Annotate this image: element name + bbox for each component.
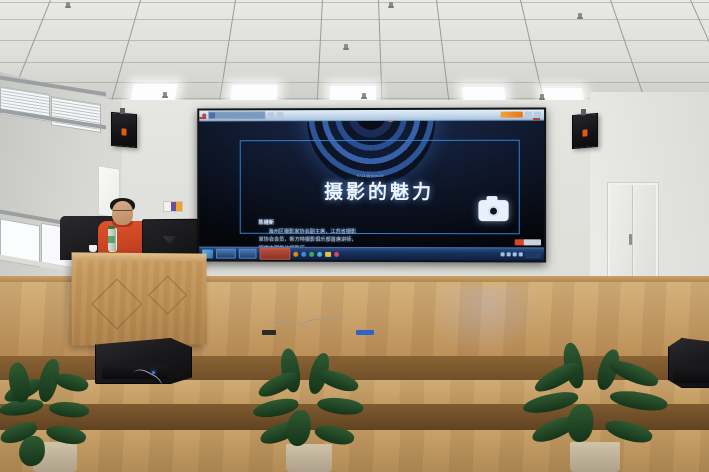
tray-icon[interactable] bbox=[317, 251, 322, 256]
windows-taskbar[interactable] bbox=[199, 247, 544, 261]
glasses-icon bbox=[113, 210, 132, 215]
sprinkler-head bbox=[389, 2, 393, 8]
sprinkler-head bbox=[578, 13, 582, 19]
double-door[interactable] bbox=[607, 182, 659, 284]
sprinkler-head bbox=[362, 93, 366, 99]
door-handle[interactable] bbox=[629, 234, 632, 245]
plant-pot bbox=[286, 444, 332, 472]
bottle-label bbox=[108, 236, 115, 243]
led-display[interactable]: 9/11@mm45 摄影的魅力 陈继新 海州区摄影家协会副主席，江苏省摄影 家协… bbox=[197, 107, 546, 262]
taskbar-active-window[interactable] bbox=[260, 248, 291, 260]
taskbar-clock[interactable] bbox=[525, 251, 541, 258]
slide-title: 摄影的魅力 bbox=[241, 177, 519, 204]
maximize-icon[interactable] bbox=[534, 112, 541, 118]
potted-plant-left bbox=[0, 340, 110, 472]
tray-icon[interactable] bbox=[309, 251, 314, 256]
potted-plant-right bbox=[520, 342, 670, 472]
bio-line-2: 家协会会员，新方特摄影俱乐部首席讲师， bbox=[259, 237, 357, 243]
wall-speaker-left bbox=[111, 112, 137, 148]
plant-leaf bbox=[316, 395, 364, 418]
lens-highlight bbox=[386, 121, 395, 122]
presentation-slide: 9/11@mm45 摄影的魅力 陈继新 海州区摄影家协会副主席，江苏省摄影 家协… bbox=[199, 121, 544, 248]
taskbar-window[interactable] bbox=[216, 249, 236, 259]
wooden-podium bbox=[72, 252, 207, 345]
door-leaf-right[interactable] bbox=[634, 185, 656, 281]
sprinkler-head bbox=[66, 2, 70, 8]
potted-plant-center bbox=[252, 348, 366, 472]
toolbar-button[interactable] bbox=[267, 112, 274, 118]
cable-connector bbox=[262, 330, 276, 335]
screenshot-root: 9/11@mm45 摄影的魅力 陈继新 海州区摄影家协会副主席，江苏省摄影 家协… bbox=[0, 0, 709, 472]
extension-button[interactable] bbox=[501, 112, 523, 118]
plant-leaf bbox=[609, 387, 669, 415]
door-leaf-left[interactable] bbox=[610, 185, 633, 281]
brand-logo bbox=[515, 239, 541, 245]
wall-speaker-right bbox=[572, 113, 598, 149]
minimize-icon[interactable] bbox=[525, 112, 532, 118]
tray-icon[interactable] bbox=[507, 252, 511, 256]
monitor-grille bbox=[673, 367, 709, 383]
presenter-bio: 陈继新 海州区摄影家协会副主席，江苏省摄影 家协会会员，新方特摄影俱乐部首席讲师… bbox=[259, 219, 459, 248]
taskbar-window[interactable] bbox=[239, 249, 257, 259]
plant-leaf bbox=[316, 365, 361, 396]
plant-leaf bbox=[53, 370, 90, 396]
sprinkler-head bbox=[344, 44, 348, 50]
tray-icon[interactable] bbox=[519, 252, 523, 256]
plant-pot bbox=[570, 442, 620, 472]
paper-cup[interactable] bbox=[89, 245, 97, 252]
camera-icon bbox=[478, 200, 508, 221]
tray-icon[interactable] bbox=[513, 252, 517, 256]
presenter-name: 陈继新 bbox=[259, 220, 274, 226]
bio-line-1: 海州区摄影家协会副主席，江苏省摄影 bbox=[259, 227, 459, 236]
browser-toolbar[interactable] bbox=[199, 109, 544, 121]
corner-mark bbox=[199, 117, 206, 119]
laptop-logo bbox=[163, 236, 177, 244]
tray-icon[interactable] bbox=[325, 251, 331, 256]
bottle-cap bbox=[108, 226, 115, 229]
slide-border-frame: 摄影的魅力 陈继新 海州区摄影家协会副主席，江苏省摄影 家协会会员，新方特摄影俱… bbox=[240, 140, 520, 235]
tray-icon[interactable] bbox=[334, 251, 339, 256]
tray-icon[interactable] bbox=[293, 251, 298, 256]
speaker-bracket-right bbox=[581, 109, 586, 115]
plant-leaf bbox=[48, 399, 90, 419]
corner-mark bbox=[533, 118, 540, 120]
address-bar[interactable] bbox=[208, 111, 265, 119]
tray-icon[interactable] bbox=[501, 252, 505, 256]
blue-remote bbox=[356, 330, 374, 335]
plant-leaf bbox=[567, 404, 594, 443]
wall-poster bbox=[163, 201, 183, 212]
toolbar-button[interactable] bbox=[276, 112, 283, 118]
system-tray[interactable] bbox=[501, 251, 541, 258]
plant-leaf bbox=[286, 410, 311, 447]
speaker-bracket-left bbox=[120, 108, 125, 114]
sprinkler-head bbox=[163, 92, 167, 98]
stage-monitor-right bbox=[668, 338, 709, 388]
tray-icon[interactable] bbox=[301, 251, 306, 256]
